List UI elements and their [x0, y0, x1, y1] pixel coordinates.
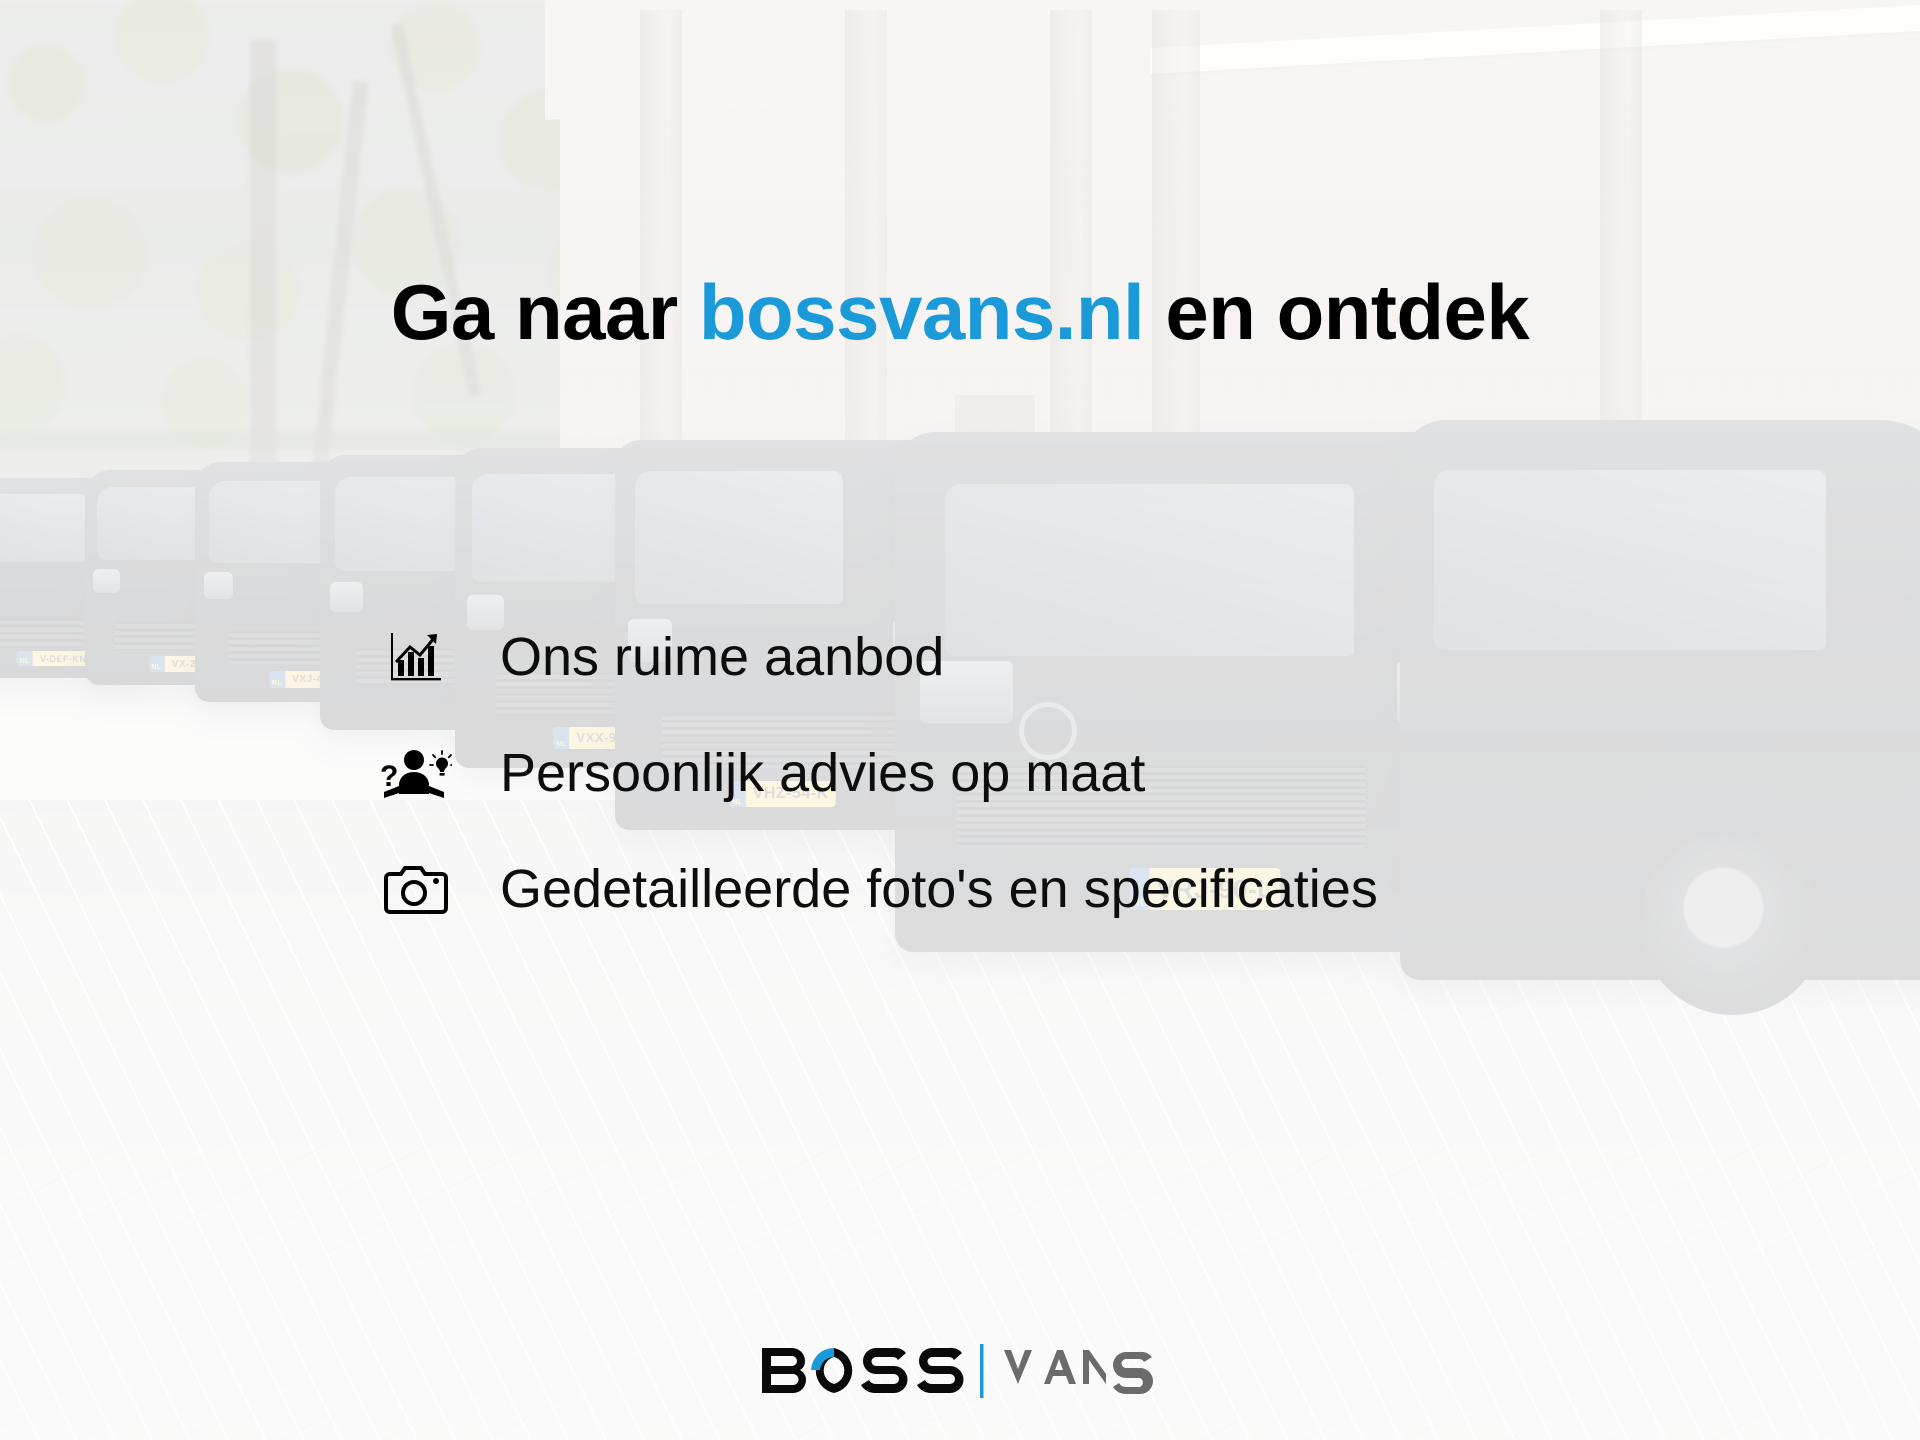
logo-s-final [1102, 1340, 1164, 1402]
headline-suffix: en ontdek [1144, 268, 1529, 356]
list-item: ? Persoonlijk advies op maat [380, 716, 1680, 832]
list-item: Ons ruime aanbod [380, 600, 1680, 716]
page-title: Ga naar bossvans.nl en ontdek [0, 272, 1920, 354]
boss-vans-logo[interactable] [756, 1340, 1164, 1402]
growth-chart-icon [380, 622, 452, 694]
headline-brand-link[interactable]: bossvans.nl [699, 268, 1144, 356]
camera-icon [380, 854, 452, 926]
list-item-label: Ons ruime aanbod [500, 628, 944, 687]
logo-artwork [756, 1340, 1106, 1402]
personal-advice-icon: ? [380, 738, 452, 810]
headline-prefix: Ga naar [391, 268, 699, 356]
list-item: Gedetailleerde foto's en specificaties [380, 832, 1680, 948]
list-item-label: Gedetailleerde foto's en specificaties [500, 860, 1378, 919]
slide-canvas: NL V-DEF-KN NL VX-266-D NL VXJ-46-Z [0, 0, 1920, 1440]
benefits-list: Ons ruime aanbod ? [380, 600, 1680, 948]
list-item-label: Persoonlijk advies op maat [500, 744, 1145, 803]
slide-content: Ga naar bossvans.nl en ontdek Ons [0, 0, 1920, 1440]
